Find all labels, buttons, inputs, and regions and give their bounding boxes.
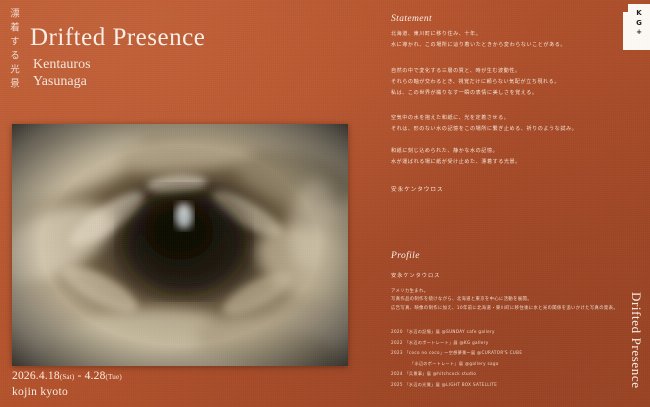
profile-body: アメリカ生まれ。 写真作品の制作を続けながら、北海道と東京を中心に活動を展開。 … — [391, 288, 618, 313]
logo-letter-k: K — [632, 9, 646, 19]
exhibition-text: 「水辺の記憶」展 @SUNDAY cafe gallery — [404, 329, 494, 334]
exhibition-text: 「水辺の光質」展 @LIGHT BOX SATELLITE — [404, 382, 497, 387]
statement-heading: Statement — [391, 14, 432, 24]
exhibition-item: 2022 「水辺のポートレート」展 @KG gallery — [391, 338, 626, 349]
artist-family-name: Yasunaga — [33, 73, 91, 90]
artist-name: Kentauros Yasunaga — [33, 56, 91, 90]
exhibition-text: 「兵景事」展 @hitchcock studio — [404, 371, 476, 376]
vertical-japanese-title: 漂着する光景 — [6, 8, 20, 92]
date-start: 2026.4.18 — [12, 370, 60, 382]
exhibition-text: 「coco no coco」〜空想夢景〜展 @CURATOR'S CUBE — [404, 350, 522, 355]
poster-canvas: 漂着する光景 Drifted Presence Kentauros Yasuna… — [0, 0, 650, 407]
exhibition-item: 2024 「兵景事」展 @hitchcock studio — [391, 369, 626, 380]
kg-plus-logo: K G + — [621, 4, 650, 54]
profile-name: 安永ケンタウロス — [391, 272, 440, 279]
page-title: Drifted Presence — [30, 24, 205, 52]
exhibition-item: 2023 「coco no coco」〜空想夢景〜展 @CURATOR'S CU… — [391, 348, 626, 359]
exhibition-dates: 2026.4.18(Sat) - 4.28(Tue) — [12, 370, 122, 382]
exhibition-text: 「水辺のポートレート」展 @KG gallery — [404, 340, 488, 345]
date-end-day: (Tue) — [106, 373, 122, 381]
statement-signature: 安永ケンタウロス — [391, 185, 444, 193]
logo-letters: K G + — [632, 9, 646, 38]
exhibition-history-list: 2020 「水辺の記憶」展 @SUNDAY cafe gallery 2022 … — [391, 327, 626, 391]
exhibition-year: 2024 — [391, 371, 403, 376]
exhibition-year: 2023 — [391, 350, 403, 355]
exhibition-item: 「水辺のポートレート」展 @gallery saga — [391, 359, 626, 370]
exhibition-year: 2020 — [391, 329, 403, 334]
statement-paragraph-4: 和紙に刻じ込められた、静かな水の記憶。 水が運ばれる場に紙が受け止めた、漂着する… — [391, 146, 521, 168]
exhibition-year: 2025 — [391, 382, 403, 387]
logo-letter-g: G — [632, 19, 646, 29]
statement-paragraph-3: 空気中の水を抱えた和紙に、光を定着させる。 それは、形のない水の記憶をこの場所に… — [391, 113, 577, 135]
exhibition-photograph — [12, 124, 348, 366]
artist-given-name: Kentauros — [33, 56, 91, 73]
exhibition-item: 2025 「水辺の光質」展 @LIGHT BOX SATELLITE — [391, 380, 626, 391]
date-end: 4.28 — [85, 370, 106, 382]
exhibition-text: 「水辺のポートレート」展 @gallery saga — [410, 361, 499, 366]
logo-letter-plus: + — [632, 28, 646, 38]
exhibition-item: 2020 「水辺の記憶」展 @SUNDAY cafe gallery — [391, 327, 626, 338]
venue-name: kojin kyoto — [12, 386, 68, 398]
date-separator: - — [74, 370, 84, 382]
photograph-artwork — [12, 124, 348, 366]
exhibition-year: 2022 — [391, 340, 403, 345]
statement-paragraph-1: 北海道、東川町に移り住み、十年。 水に導かれ、この場所に辿り着いたときから変わら… — [391, 29, 566, 51]
side-vertical-title: Drifted Presence — [628, 292, 644, 389]
date-start-day: (Sat) — [60, 373, 75, 381]
profile-heading: Profile — [391, 251, 420, 261]
statement-paragraph-2: 自然の中で変化する三層の質と、時が生む波動性。 それらの軸が交わるとき、視覚だけ… — [391, 66, 560, 100]
